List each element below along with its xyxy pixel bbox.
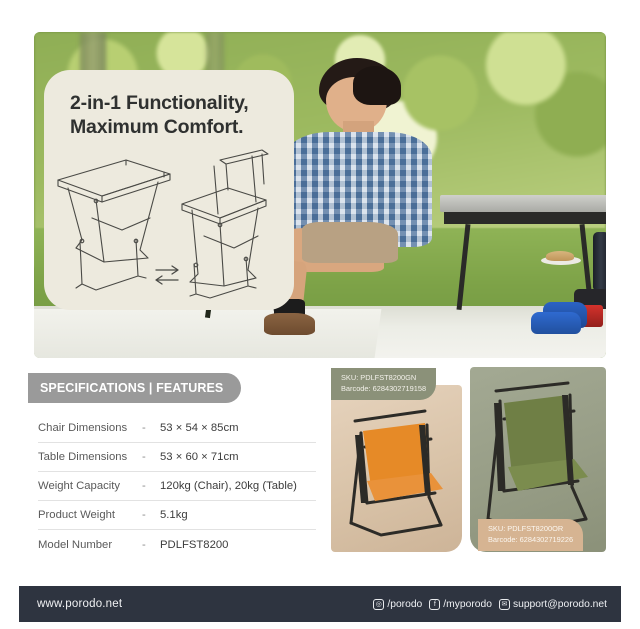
email-link[interactable]: ✉ support@porodo.net bbox=[499, 599, 607, 610]
spec-value: 5.1kg bbox=[160, 509, 188, 521]
hair-fringe bbox=[353, 66, 401, 104]
seated-man bbox=[274, 58, 446, 332]
instagram-icon: ◎ bbox=[373, 599, 384, 610]
spec-label: Table Dimensions bbox=[38, 451, 142, 463]
spec-value: PDLFST8200 bbox=[160, 539, 228, 551]
sku-code: SKU: PDLFST8200GN bbox=[341, 373, 426, 384]
product-card-orange bbox=[331, 385, 462, 552]
spec-separator: - bbox=[142, 539, 160, 551]
hero-banner: 2-in-1 Functionality, Maximum Comfort. bbox=[34, 32, 606, 358]
facebook-handle: /myporodo bbox=[443, 599, 492, 610]
sku-badge-orange: SKU: PDLFST8200OR Barcode: 6284302719226 bbox=[478, 519, 583, 551]
table-row: Product Weight - 5.1kg bbox=[38, 501, 316, 530]
spec-separator: - bbox=[142, 509, 160, 521]
email-icon: ✉ bbox=[499, 599, 510, 610]
spec-label: Chair Dimensions bbox=[38, 422, 142, 434]
footer-bar: www.porodo.net ◎ /porodo f /myporodo ✉ s… bbox=[19, 586, 621, 622]
table-row: Weight Capacity - 120kg (Chair), 20kg (T… bbox=[38, 472, 316, 501]
table-top bbox=[440, 195, 606, 212]
headline-line-1: 2-in-1 Functionality, bbox=[70, 92, 249, 114]
product-line-illustration bbox=[52, 144, 290, 302]
folding-camp-table bbox=[440, 195, 606, 325]
social-links: ◎ /porodo f /myporodo ✉ support@porodo.n… bbox=[373, 599, 607, 610]
khaki-shorts bbox=[302, 222, 398, 263]
spec-value: 53 × 60 × 71cm bbox=[160, 451, 239, 463]
spec-separator: - bbox=[142, 451, 160, 463]
spec-label: Product Weight bbox=[38, 509, 142, 521]
sku-badge-green: SKU: PDLFST8200GN Barcode: 6284302719158 bbox=[331, 368, 436, 400]
orange-chair-photo bbox=[331, 385, 462, 552]
headline-line-2: Maximum Comfort. bbox=[70, 116, 280, 140]
conversion-arrows bbox=[156, 266, 178, 284]
table-row: Chair Dimensions - 53 × 54 × 85cm bbox=[38, 414, 316, 443]
blue-duffel-bag bbox=[531, 312, 581, 334]
email-address: support@porodo.net bbox=[513, 599, 607, 610]
website-link[interactable]: www.porodo.net bbox=[37, 598, 122, 610]
water-bottle bbox=[593, 232, 606, 290]
spec-label: Weight Capacity bbox=[38, 480, 142, 492]
bread-loaf bbox=[546, 251, 574, 261]
hiking-boot bbox=[264, 313, 315, 335]
table-row: Model Number - PDLFST8200 bbox=[38, 530, 316, 559]
specifications-title: SPECIFICATIONS | FEATURES bbox=[40, 381, 223, 395]
instagram-link[interactable]: ◎ /porodo bbox=[373, 599, 422, 610]
table-apron bbox=[444, 212, 606, 224]
spec-separator: - bbox=[142, 480, 160, 492]
spec-value: 120kg (Chair), 20kg (Table) bbox=[160, 480, 297, 492]
table-row: Table Dimensions - 53 × 60 × 71cm bbox=[38, 443, 316, 472]
spec-label: Model Number bbox=[38, 539, 142, 551]
sku-code: SKU: PDLFST8200OR bbox=[488, 524, 573, 535]
barcode-number: Barcode: 6284302719226 bbox=[488, 535, 573, 546]
spec-separator: - bbox=[142, 422, 160, 434]
facebook-link[interactable]: f /myporodo bbox=[429, 599, 492, 610]
barcode-number: Barcode: 6284302719158 bbox=[341, 384, 426, 395]
instagram-handle: /porodo bbox=[387, 599, 422, 610]
product-spec-sheet: 2-in-1 Functionality, Maximum Comfort. bbox=[0, 0, 640, 629]
headline-card: 2-in-1 Functionality, Maximum Comfort. bbox=[44, 70, 294, 310]
specifications-table: Chair Dimensions - 53 × 54 × 85cm Table … bbox=[38, 414, 316, 559]
specifications-section-header: SPECIFICATIONS | FEATURES bbox=[28, 373, 241, 403]
page-title: 2-in-1 Functionality, Maximum Comfort. bbox=[70, 92, 280, 140]
facebook-icon: f bbox=[429, 599, 440, 610]
table-leg-left bbox=[456, 224, 470, 310]
spec-value: 53 × 54 × 85cm bbox=[160, 422, 239, 434]
